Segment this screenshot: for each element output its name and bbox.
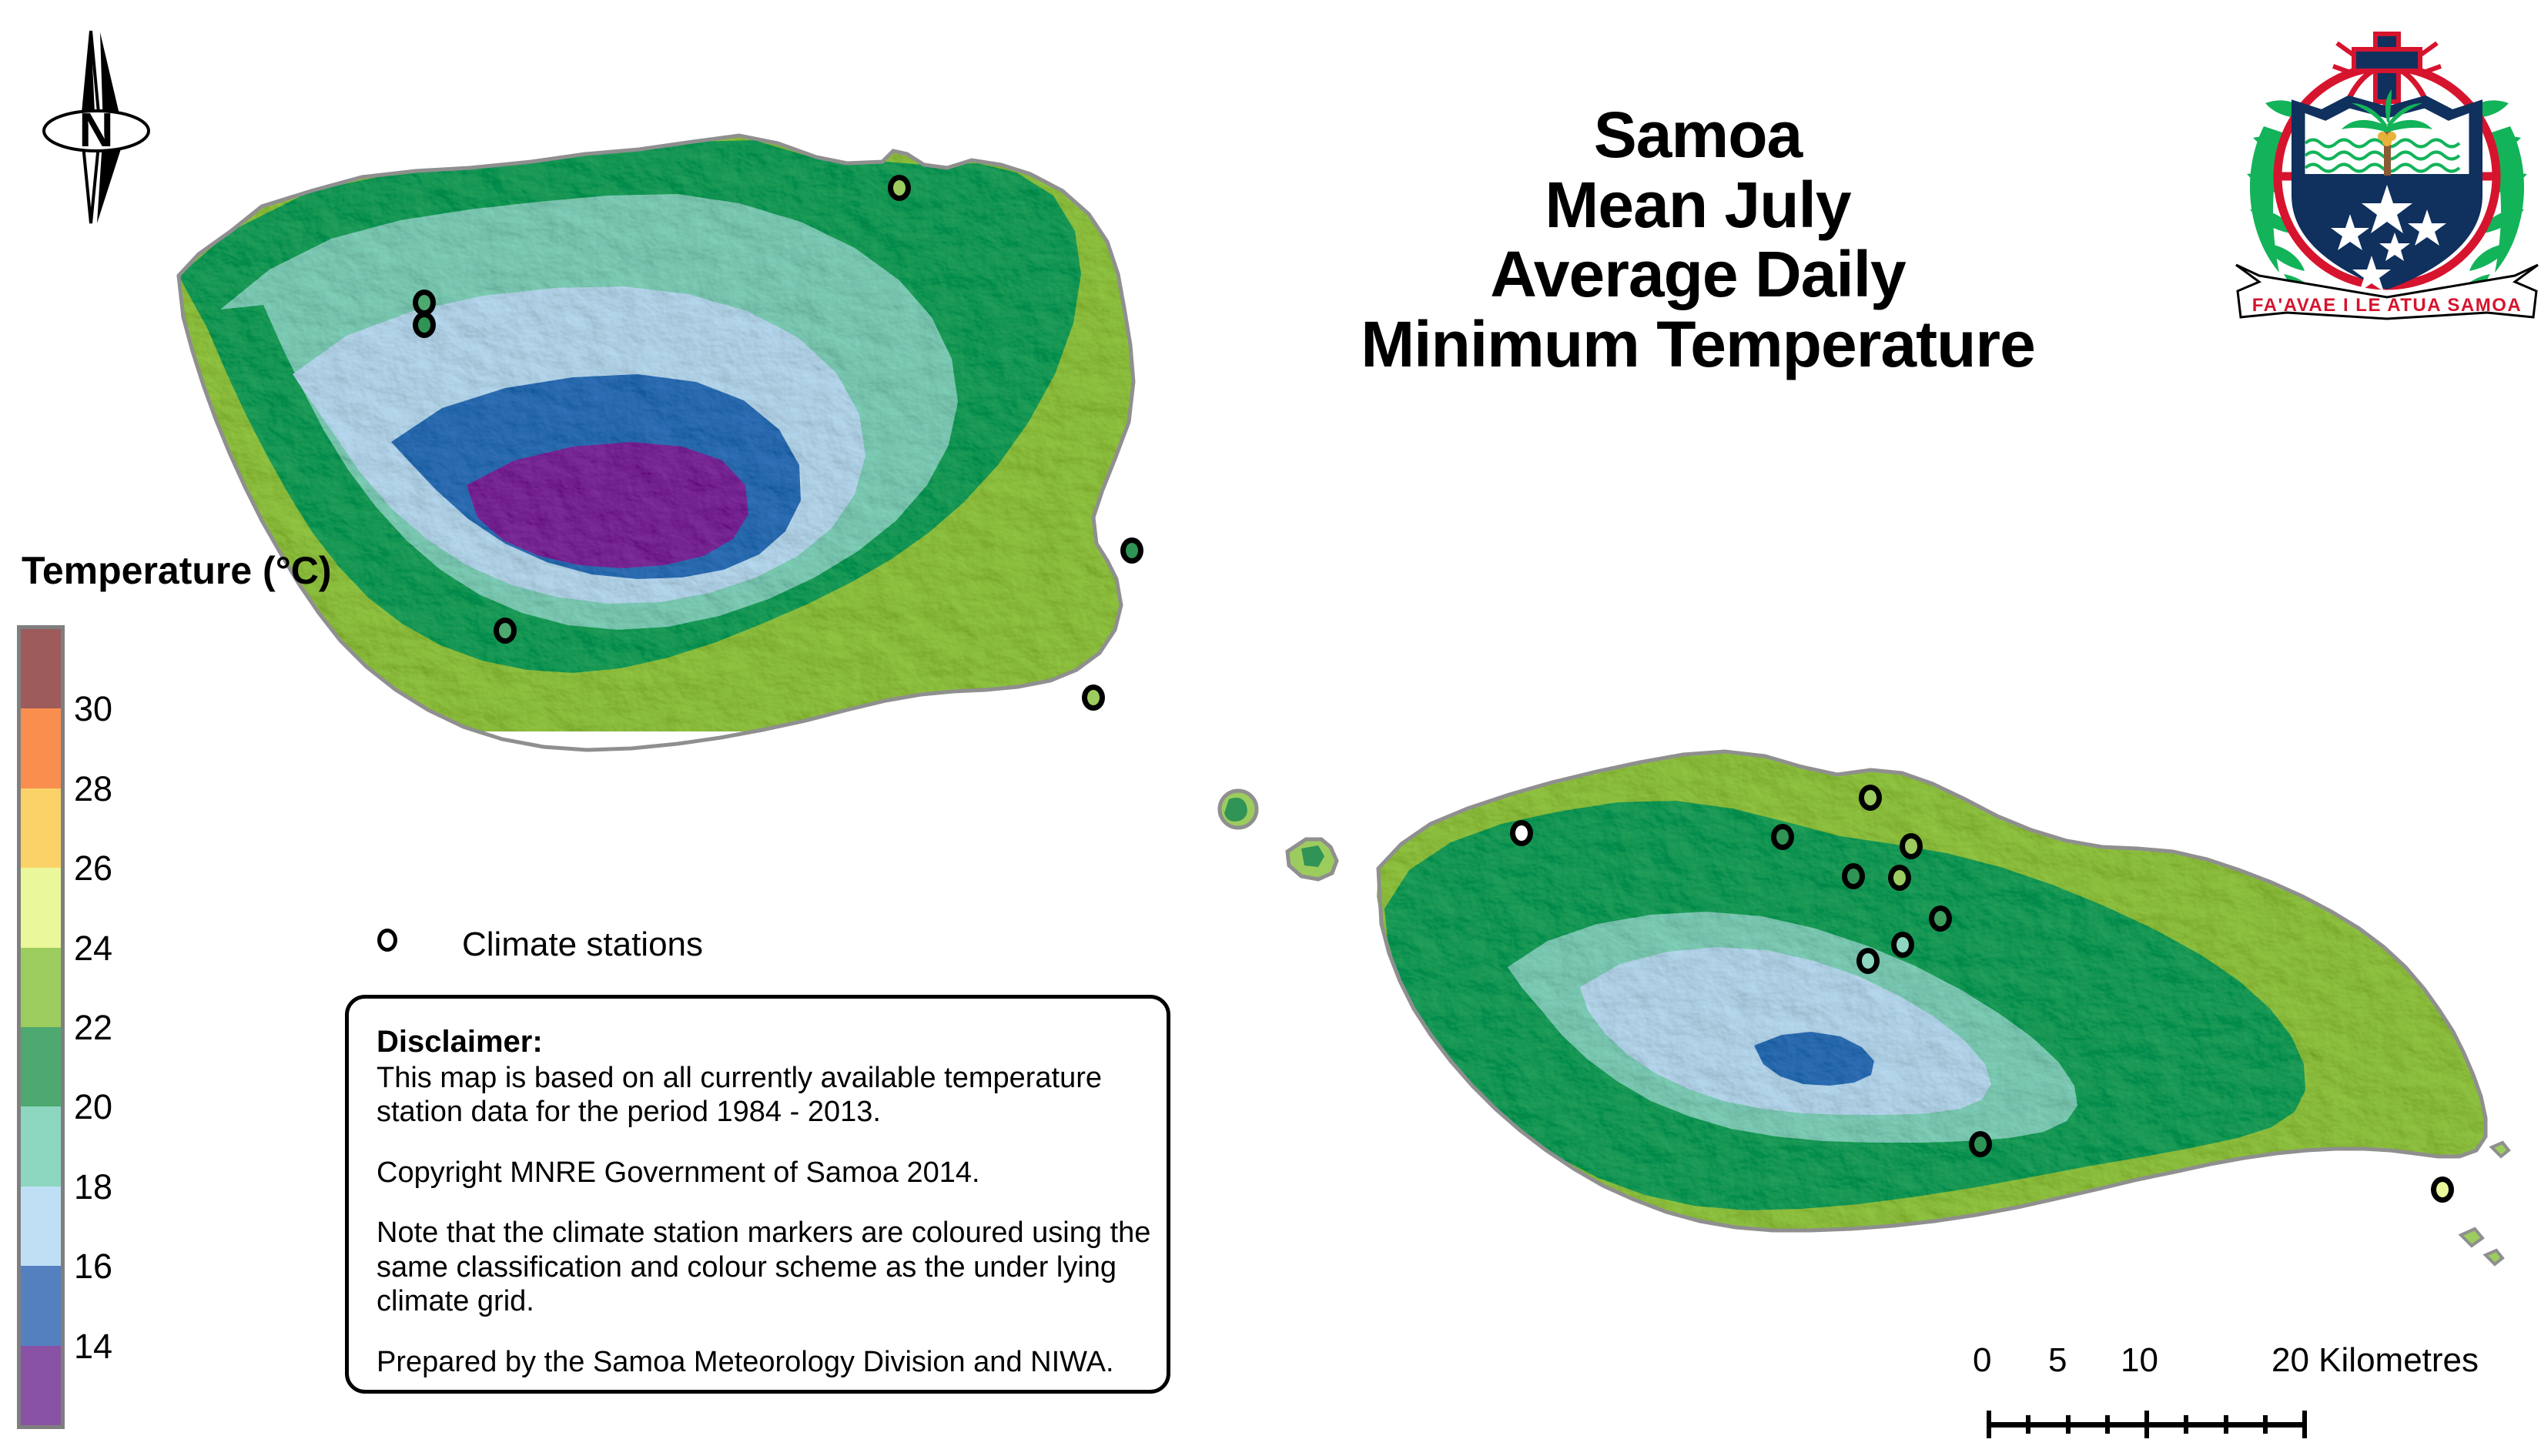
legend-swatch-12-14 xyxy=(21,1346,61,1425)
scale-tick-6 xyxy=(2224,1415,2228,1434)
scale-tick-2 xyxy=(2066,1415,2071,1434)
title-line-2: Mean July xyxy=(1309,170,2087,240)
climate-station-marker xyxy=(1859,785,1882,811)
climate-station-marker xyxy=(1856,948,1880,974)
legend-tick-16: 16 xyxy=(74,1249,112,1284)
disclaimer-box: Disclaimer: This map is based on all cur… xyxy=(345,995,1170,1394)
scale-tick-3 xyxy=(2105,1415,2110,1434)
scale-label-10: 10 xyxy=(2121,1341,2158,1380)
legend-swatch-16-18 xyxy=(21,1187,61,1266)
climate-station-marker xyxy=(1120,537,1143,564)
coat-of-arms-motto: FA'AVAE I LE ATUA SAMOA xyxy=(2252,295,2522,316)
legend-title: Temperature (°C) xyxy=(22,548,331,593)
scale-tick-0 xyxy=(1987,1411,1991,1438)
climate-station-marker xyxy=(1842,863,1865,889)
map-page: N Samoa Mean July Average Daily Minimum … xyxy=(0,0,2541,1456)
samoa-coat-of-arms-logo: FA'AVAE I LE ATUA SAMOA xyxy=(2233,11,2541,334)
scale-tick-7 xyxy=(2263,1415,2268,1434)
scale-tick-4 xyxy=(2144,1411,2149,1438)
climate-station-marker xyxy=(1891,932,1914,958)
disclaimer-heading: Disclaimer: xyxy=(377,1025,1167,1059)
legend-tick-28: 28 xyxy=(74,772,112,806)
legend-tick-30: 30 xyxy=(74,691,112,726)
disclaimer-para-3: Note that the climate station markers ar… xyxy=(377,1216,1167,1318)
climate-station-marker xyxy=(1888,865,1911,891)
legend-swatch-26-28 xyxy=(21,788,61,868)
scale-bar: 0 5 10 20 Kilometres xyxy=(1973,1341,2512,1449)
climate-station-marker xyxy=(1510,820,1533,846)
legend-tick-20: 20 xyxy=(74,1089,112,1124)
page-title: Samoa Mean July Average Daily Minimum Te… xyxy=(1309,100,2087,380)
climate-station-marker xyxy=(494,618,517,644)
climate-station-marker xyxy=(413,312,436,338)
climate-station-marker xyxy=(1900,833,1923,859)
climate-station-marker xyxy=(1929,905,1952,932)
island-apolima xyxy=(1220,791,1257,828)
scale-bar-ruler xyxy=(1987,1407,2302,1440)
title-line-3: Average Daily xyxy=(1309,239,2087,310)
legend-tick-22: 22 xyxy=(74,1010,112,1045)
legend-tick-14: 14 xyxy=(74,1329,112,1364)
island-manono xyxy=(1287,839,1337,879)
title-line-1: Samoa xyxy=(1309,100,2087,170)
legend-tick-26: 26 xyxy=(74,851,112,885)
north-arrow-label: N xyxy=(79,104,114,157)
climate-stations-legend: Climate stations xyxy=(354,921,785,975)
disclaimer-para-2: Copyright MNRE Government of Samoa 2014. xyxy=(377,1156,1167,1190)
legend-swatch-24-26 xyxy=(21,868,61,947)
climate-station-marker xyxy=(1771,824,1794,850)
temperature-tick-labels: 302826242220181614 xyxy=(74,625,213,1429)
legend-swatch-18-20 xyxy=(21,1106,61,1186)
scale-label-0: 0 xyxy=(1973,1341,1991,1380)
legend-swatch-14-16 xyxy=(21,1266,61,1345)
scale-tick-1 xyxy=(2026,1415,2030,1434)
legend-swatch-22-24 xyxy=(21,948,61,1027)
scale-tick-8 xyxy=(2302,1411,2307,1438)
legend-tick-24: 24 xyxy=(74,931,112,966)
island-upolu xyxy=(1355,739,2510,1264)
climate-station-marker xyxy=(888,175,911,201)
temperature-color-ramp xyxy=(17,625,65,1429)
climate-station-marker xyxy=(1082,684,1105,711)
scale-tick-5 xyxy=(2184,1415,2188,1434)
climate-station-marker xyxy=(1969,1131,1992,1157)
island-savaii xyxy=(139,115,1170,750)
climate-stations-label: Climate stations xyxy=(462,925,703,964)
climate-station-marker-icon xyxy=(377,929,397,952)
north-arrow-icon: N xyxy=(31,14,162,241)
scale-label-20: 20 Kilometres xyxy=(2271,1341,2479,1380)
legend-swatch-20-22 xyxy=(21,1027,61,1106)
legend-swatch-30-32 xyxy=(21,629,61,708)
title-line-4: Minimum Temperature xyxy=(1309,310,2087,380)
climate-station-marker xyxy=(2431,1177,2454,1203)
scale-label-5: 5 xyxy=(2048,1341,2067,1380)
disclaimer-para-4: Prepared by the Samoa Meteorology Divisi… xyxy=(377,1345,1167,1379)
legend-tick-18: 18 xyxy=(74,1170,112,1204)
disclaimer-para-1: This map is based on all currently avail… xyxy=(377,1061,1167,1130)
legend-swatch-28-30 xyxy=(21,708,61,788)
scale-bar-labels: 0 5 10 20 Kilometres xyxy=(1973,1341,2512,1386)
